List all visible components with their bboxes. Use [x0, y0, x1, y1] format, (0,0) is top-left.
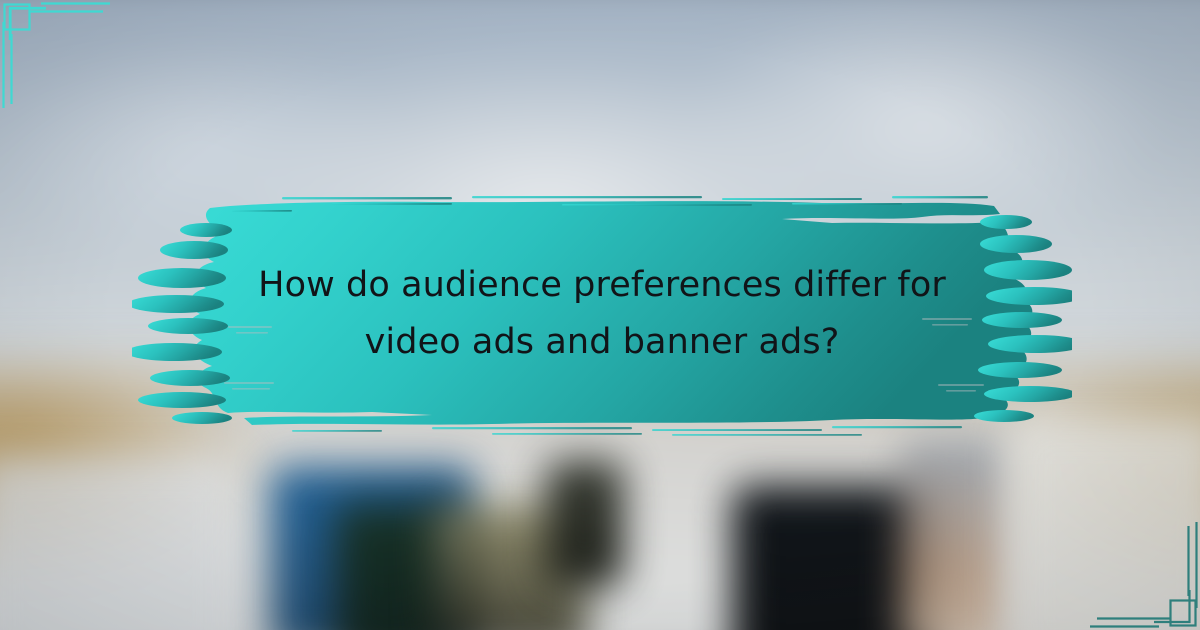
corner-frame-top-left-icon: [0, 0, 150, 150]
headline-container: How do audience preferences differ for v…: [132, 186, 1072, 442]
page-title: How do audience preferences differ for v…: [217, 257, 987, 370]
question-card: How do audience preferences differ for v…: [0, 0, 1200, 630]
corner-frame-bottom-right-icon: [1050, 480, 1200, 630]
brush-stroke-banner: How do audience preferences differ for v…: [132, 186, 1072, 442]
